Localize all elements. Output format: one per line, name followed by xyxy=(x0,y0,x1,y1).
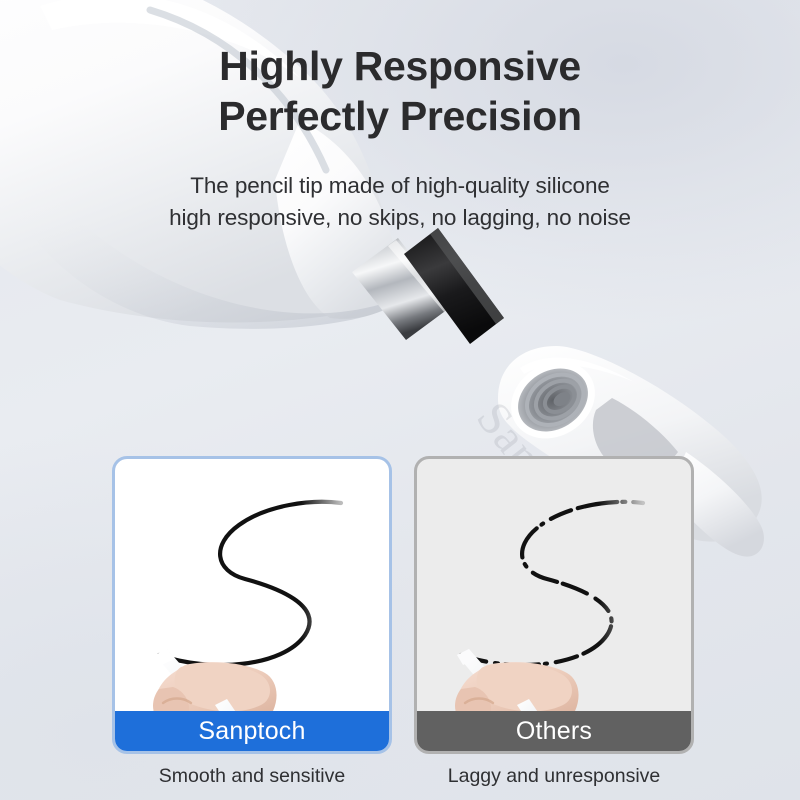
comparison-cards-row: Sanptoch xyxy=(0,456,800,754)
comparison-section: Sanptoch xyxy=(0,456,800,754)
comparison-card-sanptoch: Sanptoch xyxy=(112,456,392,754)
headline-line-2: Perfectly Precision xyxy=(0,92,800,142)
caption-others: Laggy and unresponsive xyxy=(414,763,694,789)
subheadline-line-2: high responsive, no skips, no lagging, n… xyxy=(0,202,800,234)
hand-with-stylus xyxy=(455,649,579,711)
others-drawing-canvas xyxy=(417,459,691,711)
smooth-s-curve xyxy=(159,502,341,665)
caption-sanptoch: Smooth and sensitive xyxy=(112,763,392,789)
subheadline-block: The pencil tip made of high-quality sili… xyxy=(0,170,800,234)
stylus-black-tip xyxy=(404,228,504,344)
hand-with-stylus xyxy=(153,649,277,711)
headline-block: Highly Responsive Perfectly Precision xyxy=(0,42,800,141)
stylus-chrome-collar xyxy=(352,238,452,340)
page-stage: Sanptoch Highly Responsive Perfectly Pre… xyxy=(0,0,800,800)
broken-s-curve xyxy=(461,502,643,665)
sanptoch-drawing-canvas xyxy=(115,459,389,711)
captions-row: Smooth and sensitive Laggy and unrespons… xyxy=(0,763,800,797)
subheadline-line-1: The pencil tip made of high-quality sili… xyxy=(0,170,800,202)
card-label-sanptoch: Sanptoch xyxy=(115,711,389,751)
headline-line-1: Highly Responsive xyxy=(0,42,800,92)
card-label-others: Others xyxy=(417,711,691,751)
comparison-card-others: Others xyxy=(414,456,694,754)
